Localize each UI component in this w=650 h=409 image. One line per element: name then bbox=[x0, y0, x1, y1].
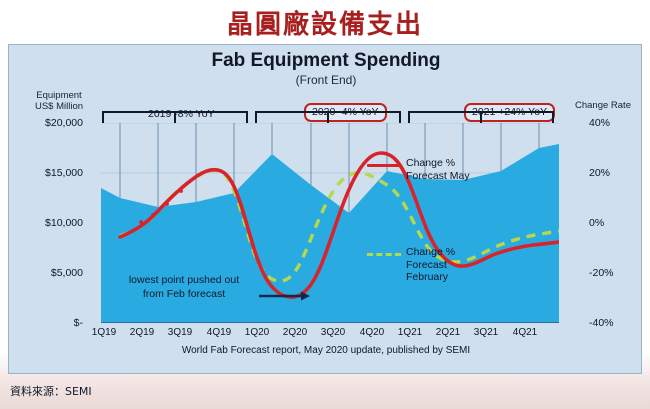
chart-subtitle: (Front End) bbox=[9, 73, 643, 87]
right-axis-caption: Change Rate bbox=[565, 100, 641, 111]
annotation-lowest-point: lowest point pushed out from Feb forecas… bbox=[109, 273, 259, 301]
annotation-lowest-point-line1: lowest point pushed out bbox=[109, 273, 259, 287]
chart-panel: Fab Equipment Spending (Front End) Equip… bbox=[8, 44, 642, 374]
y-tick-15000: $15,000 bbox=[19, 167, 83, 179]
legend-swatch-forecast-february bbox=[367, 253, 401, 256]
year-brackets bbox=[101, 107, 559, 125]
slide-canvas: 晶圓廠設備支出 Fab Equipment Spending (Front En… bbox=[0, 0, 650, 409]
y-tick-20000: $20,000 bbox=[19, 117, 83, 129]
left-axis-caption-line1: Equipment bbox=[23, 90, 95, 101]
source-note: 資料來源：SEMI bbox=[10, 383, 92, 399]
y2-tick-0: 0% bbox=[589, 217, 641, 229]
legend-forecast-february-line3: February bbox=[406, 271, 455, 284]
y-tick-5000: $5,000 bbox=[19, 267, 83, 279]
legend-forecast-february-line2: Forecast bbox=[406, 259, 455, 272]
y2-tick-40: 40% bbox=[589, 117, 641, 129]
y-tick-10000: $10,000 bbox=[19, 217, 83, 229]
chart-footnote: World Fab Forecast report, May 2020 upda… bbox=[9, 345, 643, 356]
left-axis-caption: Equipment US$ Million bbox=[23, 90, 95, 112]
legend-swatch-forecast-may bbox=[367, 164, 401, 167]
plot-area: lowest point pushed out from Feb forecas… bbox=[101, 123, 559, 323]
left-axis-caption-line2: US$ Million bbox=[23, 101, 95, 112]
y2-tick-20: 20% bbox=[589, 167, 641, 179]
legend-forecast-february-line1: Change % bbox=[406, 246, 455, 259]
x-tick-3q19: 3Q19 bbox=[158, 327, 202, 338]
y2-tick-m40: -40% bbox=[589, 317, 641, 329]
legend-forecast-may-line2: Forecast May bbox=[406, 170, 470, 183]
legend-label-forecast-february: Change % Forecast February bbox=[406, 246, 455, 284]
page-title: 晶圓廠設備支出 bbox=[0, 4, 650, 41]
x-tick-3q21: 3Q21 bbox=[464, 327, 508, 338]
legend-forecast-may-line1: Change % bbox=[406, 157, 470, 170]
annotation-lowest-point-line2: from Feb forecast bbox=[109, 287, 259, 301]
chart-title: Fab Equipment Spending bbox=[9, 50, 643, 72]
legend-label-forecast-may: Change % Forecast May bbox=[406, 157, 470, 182]
y-tick-0: $- bbox=[19, 317, 83, 329]
x-tick-4q21: 4Q21 bbox=[503, 327, 547, 338]
x-tick-3q20: 3Q20 bbox=[311, 327, 355, 338]
y2-tick-m20: -20% bbox=[589, 267, 641, 279]
